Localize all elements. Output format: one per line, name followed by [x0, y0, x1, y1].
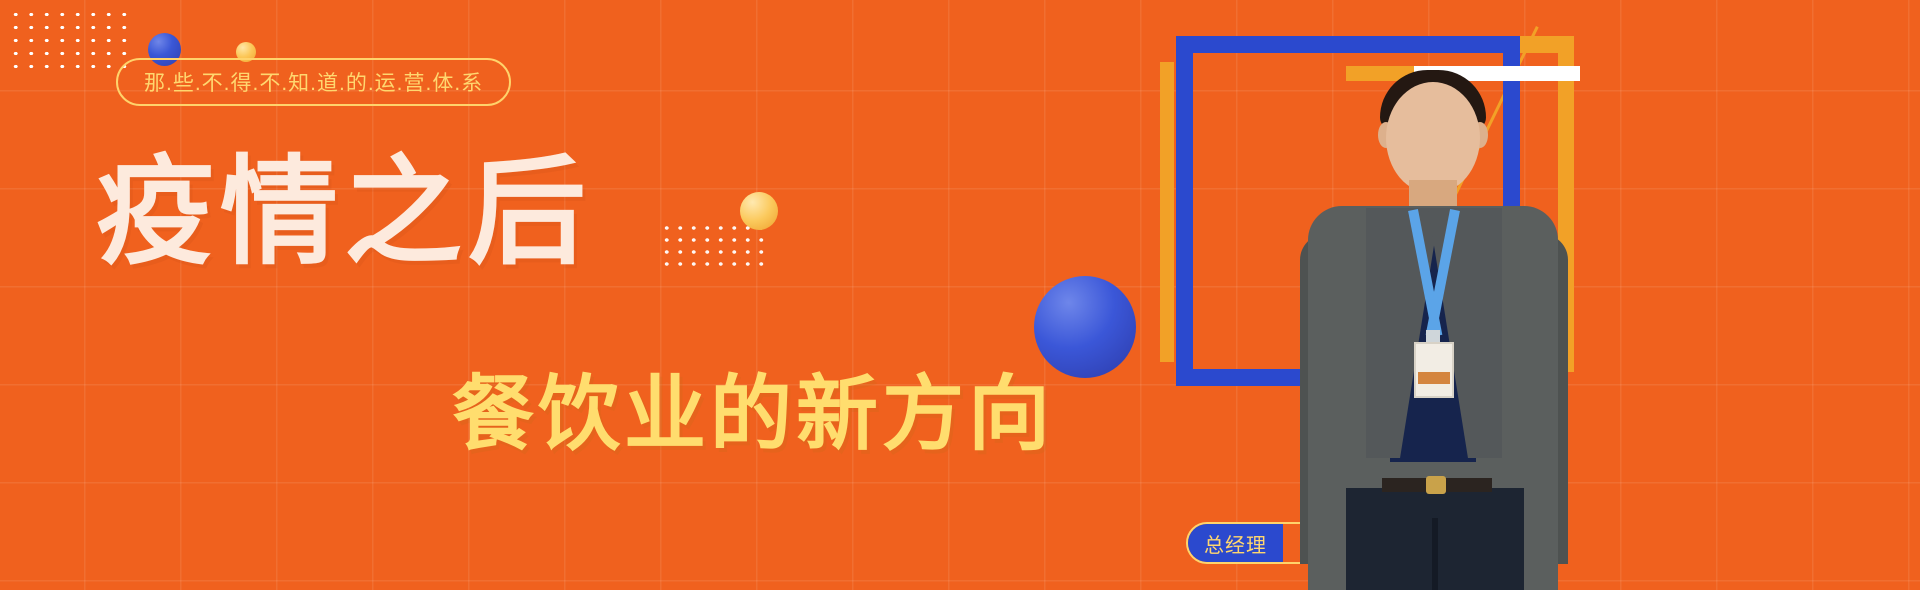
portrait-belt-buckle [1426, 476, 1446, 494]
bottom-bar [0, 590, 1920, 600]
page-title: 疫情之后 [96, 152, 592, 276]
dot-grid-icon [8, 8, 132, 70]
kicker-label: 那.些.不.得.不.知.道.的.运.营.体.系 [144, 67, 483, 97]
dot-grid-icon [660, 222, 768, 270]
page-subtitle: 餐饮业的新方向 [452, 372, 1054, 458]
portrait-pants-seam [1432, 518, 1438, 600]
portrait-badge-strip [1418, 372, 1450, 384]
portrait-head [1386, 82, 1480, 194]
banner-stage: 那.些.不.得.不.知.道.的.运.营.体.系 疫情之后 餐饮业的新方向 总经理… [0, 0, 1920, 600]
portrait-frame [1160, 20, 1920, 600]
sphere-blue-large-icon [1034, 276, 1136, 378]
kicker-pill: 那.些.不.得.不.知.道.的.运.营.体.系 [116, 58, 511, 106]
speaker-portrait [1278, 48, 1608, 600]
sphere-yellow-medium-icon [740, 192, 778, 230]
portrait-id-badge [1414, 342, 1454, 398]
frame-accent-left [1160, 62, 1174, 362]
